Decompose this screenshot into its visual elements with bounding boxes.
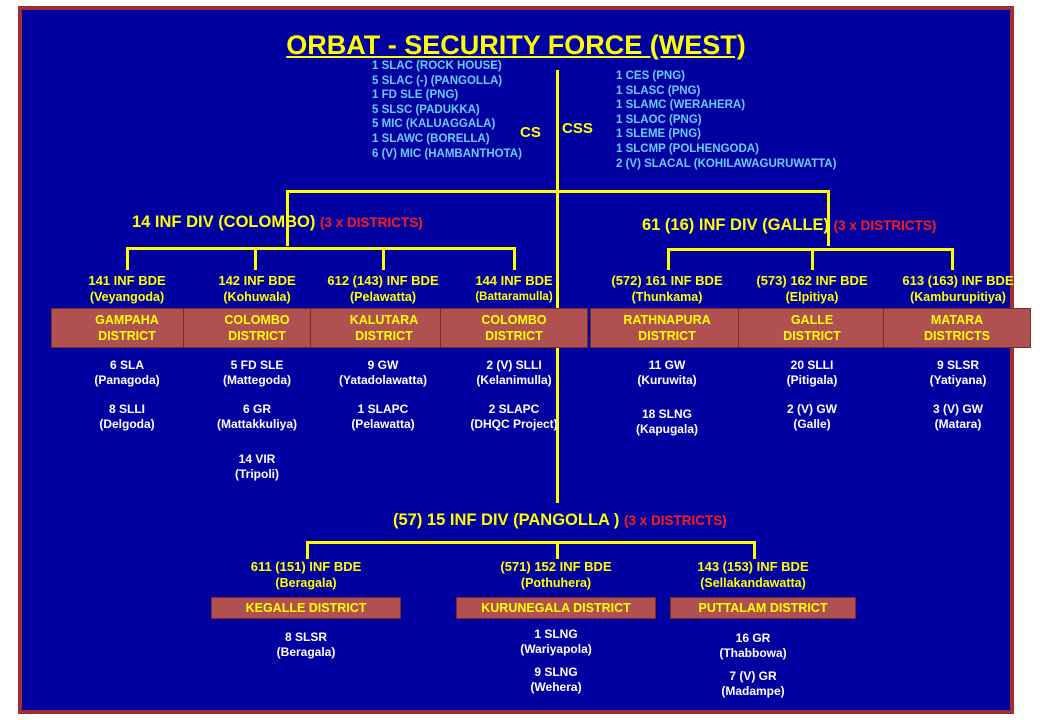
district-box-kegalle[interactable]: KEGALLE DISTRICT bbox=[211, 597, 401, 619]
brigade-name: 613 (163) INF BDE bbox=[865, 273, 1040, 289]
connector-drop-bde-142 bbox=[254, 247, 257, 270]
brigade-name: 143 (153) INF BDE bbox=[660, 559, 846, 575]
division-districts-note: (3 x DISTRICTS) bbox=[320, 215, 423, 230]
unit-name: 9 SLNG bbox=[463, 665, 649, 680]
cs-item: 1 FD SLE (PNG) bbox=[372, 88, 522, 103]
css-item: 1 SLAOC (PNG) bbox=[616, 113, 836, 128]
district-line-1: KEGALLE DISTRICT bbox=[246, 600, 367, 616]
district-line-2: DISTRICT bbox=[783, 328, 841, 344]
connector-drop-bde-162 bbox=[811, 248, 814, 270]
unit-name: 7 (V) GR bbox=[660, 669, 846, 684]
unit-name: 14 VIR bbox=[172, 452, 342, 467]
unit-location: (Madampe) bbox=[660, 684, 846, 699]
district-box-colombo-1[interactable]: COLOMBO DISTRICT bbox=[183, 308, 331, 348]
unit-163-2: 3 (V) GW (Matara) bbox=[865, 402, 1040, 432]
unit-152-2: 9 SLNG (Wehera) bbox=[463, 665, 649, 695]
division-header-61: 61 (16) INF DIV (GALLE) (3 x DISTRICTS) bbox=[642, 216, 936, 235]
cs-item: 1 SLAC (ROCK HOUSE) bbox=[372, 59, 522, 74]
orbat-canvas: ORBAT - SECURITY FORCE (WEST) 1 SLAC (RO… bbox=[22, 10, 1010, 710]
orbat-slide: ORBAT - SECURITY FORCE (WEST) 1 SLAC (RO… bbox=[18, 6, 1014, 714]
css-item: 2 (V) SLACAL (KOHILAWAGURUWATTA) bbox=[616, 157, 836, 172]
brigade-name: 611 (151) INF BDE bbox=[213, 559, 399, 575]
brigade-571-152: (571) 152 INF BDE (Pothuhera) bbox=[463, 559, 649, 591]
connector-drop-bde-161 bbox=[667, 248, 670, 270]
brigade-163: 613 (163) INF BDE (Kamburupitiya) bbox=[865, 273, 1040, 305]
css-unit-list: 1 CES (PNG) 1 SLASC (PNG) 1 SLAMC (WERAH… bbox=[616, 69, 836, 171]
district-line-1: PUTTALAM DISTRICT bbox=[699, 600, 828, 616]
district-box-kalutara[interactable]: KALUTARA DISTRICT bbox=[310, 308, 458, 348]
unit-151-1: 8 SLSR (Beragala) bbox=[213, 630, 399, 660]
district-line-1: MATARA bbox=[931, 312, 983, 328]
district-line-2: DISTRICT bbox=[638, 328, 696, 344]
connector-trunk-vertical bbox=[556, 70, 559, 192]
cs-item: 1 SLAWC (BORELLA) bbox=[372, 132, 522, 147]
cs-item: 5 SLSC (PADUKKA) bbox=[372, 103, 522, 118]
division-districts-note: (3 x DISTRICTS) bbox=[624, 513, 727, 528]
unit-location: (Matara) bbox=[865, 417, 1040, 432]
brigade-location: (Sellakandawatta) bbox=[660, 575, 846, 591]
css-label: CSS bbox=[562, 120, 593, 137]
unit-142-3: 14 VIR (Tripoli) bbox=[172, 452, 342, 482]
unit-location: (Beragala) bbox=[213, 645, 399, 660]
unit-name: 8 SLSR bbox=[213, 630, 399, 645]
unit-location: (Tripoli) bbox=[172, 467, 342, 482]
district-box-kurunegala[interactable]: KURUNEGALA DISTRICT bbox=[456, 597, 656, 619]
district-line-1: GAMPAHA bbox=[95, 312, 159, 328]
unit-location: (Wariyapola) bbox=[463, 642, 649, 657]
connector-drop-bde-151 bbox=[306, 541, 309, 559]
connector-drop-bde-143 bbox=[382, 247, 385, 270]
unit-name: 9 SLSR bbox=[865, 358, 1040, 373]
connector-drop-bde-163 bbox=[951, 248, 954, 270]
brigade-location: (Pothuhera) bbox=[463, 575, 649, 591]
district-box-puttalam[interactable]: PUTTALAM DISTRICT bbox=[670, 597, 856, 619]
division-name: (57) 15 INF DIV (PANGOLLA ) bbox=[393, 511, 619, 529]
unit-name: 1 SLNG bbox=[463, 627, 649, 642]
cs-item: 6 (V) MIC (HAMBANTHOTA) bbox=[372, 147, 522, 162]
cs-item: 5 MIC (KALUAGGALA) bbox=[372, 117, 522, 132]
district-line-2: DISTRICT bbox=[98, 328, 156, 344]
district-line-2: DISTRICT bbox=[228, 328, 286, 344]
unit-152-1: 1 SLNG (Wariyapola) bbox=[463, 627, 649, 657]
brigade-location: (Kamburupitiya) bbox=[865, 289, 1040, 305]
district-box-rathnapura[interactable]: RATHNAPURA DISTRICT bbox=[590, 308, 744, 348]
district-line-1: COLOMBO bbox=[481, 312, 546, 328]
connector-drop-bde-144 bbox=[513, 247, 516, 270]
connector-bus-div14 bbox=[126, 247, 516, 250]
district-line-1: KALUTARA bbox=[350, 312, 419, 328]
brigade-143-153: 143 (153) INF BDE (Sellakandawatta) bbox=[660, 559, 846, 591]
css-item: 1 SLEME (PNG) bbox=[616, 127, 836, 142]
page-title: ORBAT - SECURITY FORCE (WEST) bbox=[22, 30, 1010, 61]
division-name: 14 INF DIV (COLOMBO) bbox=[132, 213, 315, 231]
district-box-galle[interactable]: GALLE DISTRICT bbox=[738, 308, 886, 348]
unit-location: (Wehera) bbox=[463, 680, 649, 695]
unit-location: (Yatiyana) bbox=[865, 373, 1040, 388]
division-name: 61 (16) INF DIV (GALLE) bbox=[642, 216, 829, 234]
district-box-gampaha[interactable]: GAMPAHA DISTRICT bbox=[51, 308, 203, 348]
unit-name: 3 (V) GW bbox=[865, 402, 1040, 417]
district-line-1: RATHNAPURA bbox=[623, 312, 710, 328]
connector-bus-div15 bbox=[306, 541, 756, 544]
connector-drop-bde-153 bbox=[753, 541, 756, 559]
division-header-14: 14 INF DIV (COLOMBO) (3 x DISTRICTS) bbox=[132, 213, 423, 232]
connector-drop-bde-152 bbox=[556, 541, 559, 559]
unit-location: (Thabbowa) bbox=[660, 646, 846, 661]
unit-153-1: 16 GR (Thabbowa) bbox=[660, 631, 846, 661]
cs-label: CS bbox=[520, 124, 541, 141]
district-box-matara[interactable]: MATARA DISTRICTS bbox=[883, 308, 1031, 348]
district-line-1: COLOMBO bbox=[224, 312, 289, 328]
district-box-colombo-2[interactable]: COLOMBO DISTRICT bbox=[440, 308, 588, 348]
district-line-1: GALLE bbox=[791, 312, 833, 328]
district-line-2: DISTRICTS bbox=[924, 328, 990, 344]
unit-name: 16 GR bbox=[660, 631, 846, 646]
css-item: 1 SLASC (PNG) bbox=[616, 84, 836, 99]
cs-item: 5 SLAC (-) (PANGOLLA) bbox=[372, 74, 522, 89]
district-line-2: DISTRICT bbox=[355, 328, 413, 344]
district-line-2: DISTRICT bbox=[485, 328, 543, 344]
css-item: 1 CES (PNG) bbox=[616, 69, 836, 84]
css-item: 1 SLAMC (WERAHERA) bbox=[616, 98, 836, 113]
district-line-1: KURUNEGALA DISTRICT bbox=[481, 600, 631, 616]
connector-drop-bde-141 bbox=[126, 247, 129, 270]
division-districts-note: (3 x DISTRICTS) bbox=[834, 218, 937, 233]
brigade-611-151: 611 (151) INF BDE (Beragala) bbox=[213, 559, 399, 591]
css-item: 1 SLCMP (POLHENGODA) bbox=[616, 142, 836, 157]
unit-153-2: 7 (V) GR (Madampe) bbox=[660, 669, 846, 699]
brigade-name: (571) 152 INF BDE bbox=[463, 559, 649, 575]
division-header-15: (57) 15 INF DIV (PANGOLLA ) (3 x DISTRIC… bbox=[393, 511, 727, 530]
unit-163-1: 9 SLSR (Yatiyana) bbox=[865, 358, 1040, 388]
cs-unit-list: 1 SLAC (ROCK HOUSE) 5 SLAC (-) (PANGOLLA… bbox=[372, 59, 522, 161]
brigade-location: (Beragala) bbox=[213, 575, 399, 591]
